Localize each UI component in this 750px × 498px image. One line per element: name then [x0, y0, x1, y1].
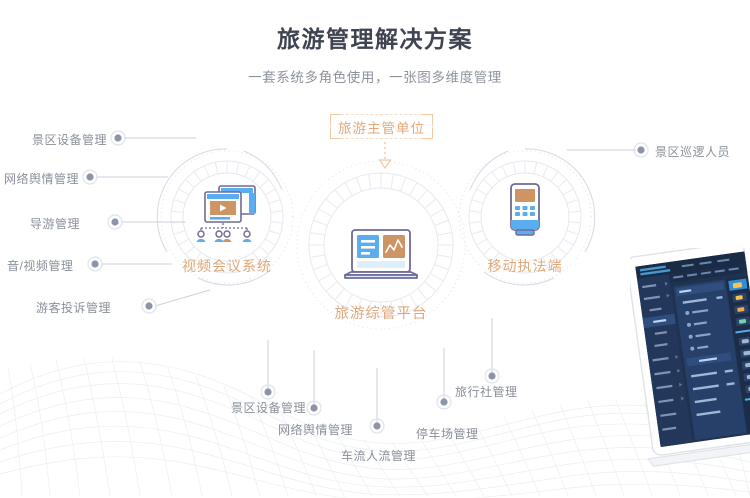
page-title: 旅游管理解决方案 [0, 26, 750, 54]
governing-unit-box[interactable]: 旅游主管单位 [330, 114, 433, 139]
module-label-mobile-enforcement: 移动执法端 [455, 256, 595, 276]
governing-unit-label: 旅游主管单位 [338, 117, 425, 137]
spoke-label-bottom-2[interactable]: 网络舆情管理 [278, 421, 353, 438]
tourism-admin-dashboard-preview[interactable] [630, 248, 750, 498]
governing-unit-arrow-icon [375, 142, 395, 170]
spoke-label-left-5[interactable]: 游客投诉管理 [36, 299, 111, 316]
laptop-dashboard-icon [337, 228, 425, 290]
infographic-stage: 旅游管理解决方案 一套系统多角色使用，一张图多维度管理 [0, 0, 750, 498]
handheld-terminal-icon [499, 182, 551, 244]
module-label-tourism-platform: 旅游综管平台 [311, 302, 451, 323]
spoke-label-bottom-3[interactable]: 车流人流管理 [341, 447, 416, 464]
video-conference-icon [189, 182, 265, 244]
spoke-label-left-1[interactable]: 景区设备管理 [32, 131, 107, 148]
module-tourism-platform[interactable]: 旅游综管平台 [311, 228, 451, 323]
module-mobile-enforcement[interactable]: 移动执法端 [455, 182, 595, 276]
spoke-label-bottom-4[interactable]: 停车场管理 [416, 425, 479, 442]
spoke-label-left-3[interactable]: 导游管理 [30, 215, 80, 232]
page-subtitle: 一套系统多角色使用，一张图多维度管理 [0, 66, 750, 86]
spoke-label-bottom-1[interactable]: 景区设备管理 [231, 399, 306, 416]
spoke-label-left-2[interactable]: 网络舆情管理 [4, 170, 79, 187]
spoke-label-left-4[interactable]: 音/视频管理 [7, 257, 73, 274]
page-header: 旅游管理解决方案 一套系统多角色使用，一张图多维度管理 [0, 0, 750, 86]
module-label-video-conference: 视频会议系统 [157, 256, 297, 276]
module-video-conference[interactable]: 视频会议系统 [157, 182, 297, 276]
spoke-label-right-1[interactable]: 景区巡逻人员 [655, 143, 730, 160]
spoke-label-bottom-5[interactable]: 旅行社管理 [455, 383, 518, 400]
